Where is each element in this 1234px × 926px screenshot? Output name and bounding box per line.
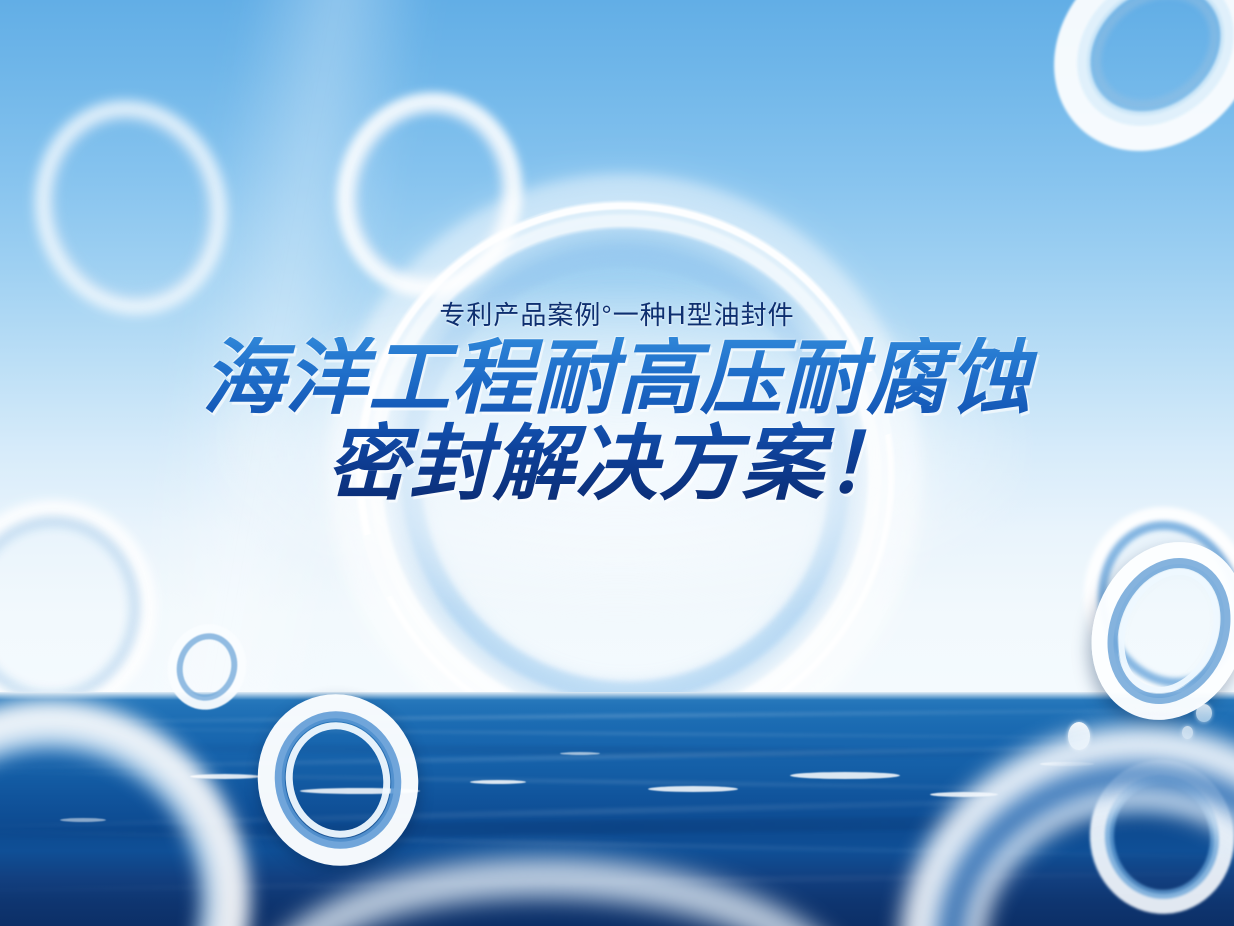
poster-canvas: 专利产品案例°一种H型油封件 海洋工程耐高压耐腐蚀 密封解决方案！ [0,0,1234,926]
wave-streak [0,726,1234,742]
foam-speckle [648,786,738,792]
foam-speckle [470,780,526,784]
droplet-right-small [1196,704,1212,722]
headline-line-2: 密封解决方案！ [0,423,1234,505]
wave-streak [0,706,1234,726]
poster-headline: 海洋工程耐高压耐腐蚀 密封解决方案！ [0,337,1234,505]
headline-group: 专利产品案例°一种H型油封件 海洋工程耐高压耐腐蚀 密封解决方案！ [0,300,1234,505]
poster-subtitle: 专利产品案例°一种H型油封件 [0,300,1234,331]
foam-speckle [790,772,900,779]
headline-line-1: 海洋工程耐高压耐腐蚀 [202,330,1032,426]
foam-speckle [560,752,600,755]
